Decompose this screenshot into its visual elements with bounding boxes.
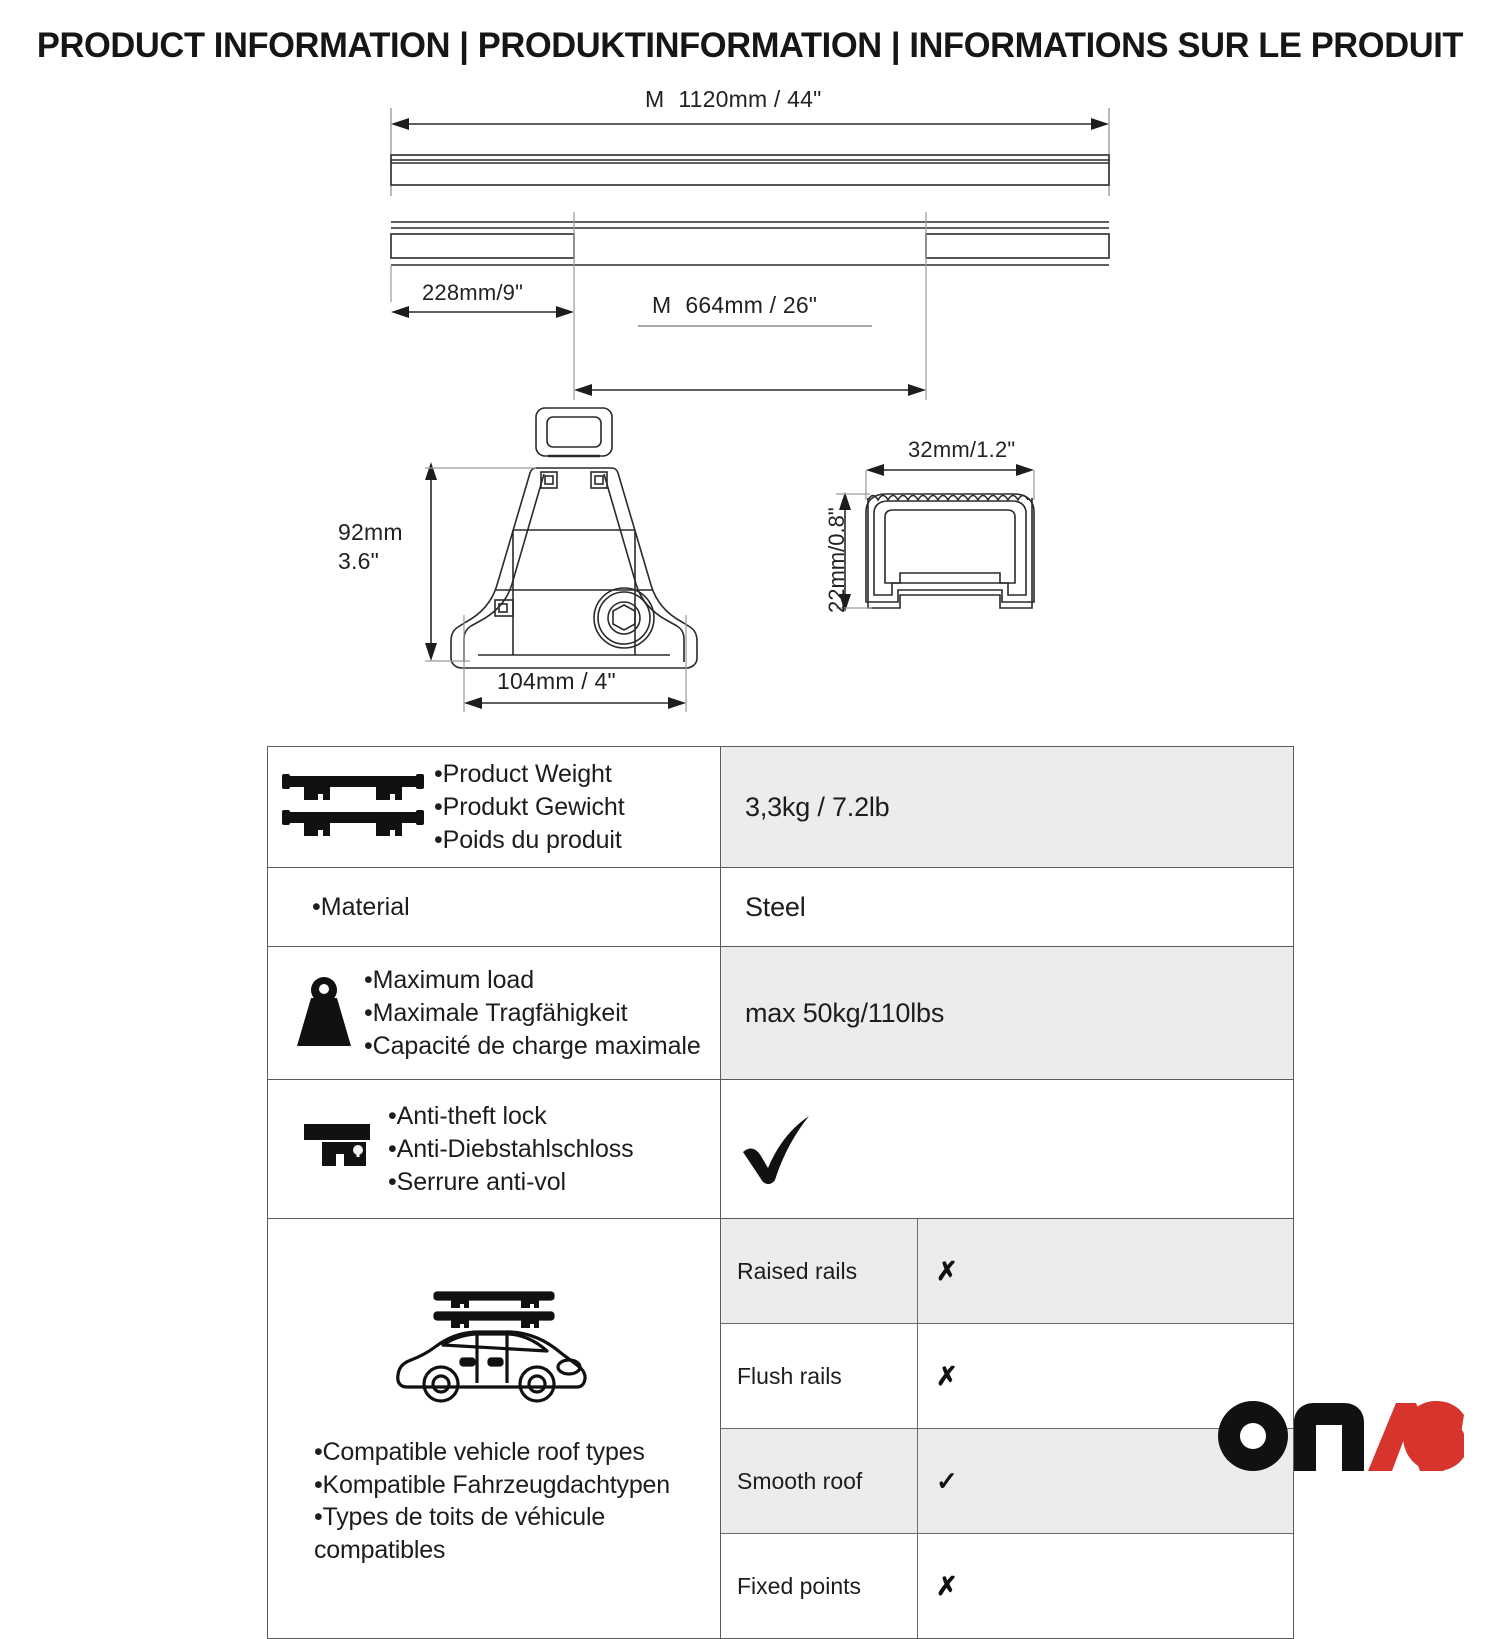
label-line: •Compatible vehicle roof types (314, 1436, 710, 1469)
roof-type-mark: ✗ (918, 1571, 1293, 1602)
max-load-label-cell: •Maximum load •Maximale Tragfähigkeit •C… (268, 947, 721, 1080)
product-spec-table: •Product Weight •Produkt Gewicht •Poids … (267, 746, 1294, 1639)
label-line: •Capacité de charge maximale (364, 1032, 701, 1060)
roof-type-name: Flush rails (721, 1363, 917, 1390)
weight-kettlebell-icon (278, 974, 370, 1052)
material-value-cell: Steel (721, 868, 1294, 947)
bar-length-value: 1120mm / 44" (678, 86, 821, 112)
roof-type-mark-cell: ✗ (918, 1534, 1294, 1639)
roof-type-name-cell: Smooth roof (721, 1429, 918, 1534)
foot-height-mm: 92mm (338, 518, 403, 547)
label-line: •Maximum load (364, 966, 534, 994)
table-row: •Anti-theft lock •Anti-Diebstahlschloss … (268, 1080, 1294, 1219)
roof-types-table: Raised rails ✗ Flush rails ✗ (721, 1219, 1293, 1638)
anti-theft-check-icon (721, 1110, 1293, 1188)
label-line: •Poids du produit (434, 826, 622, 854)
roof-type-mark: ✗ (918, 1361, 1293, 1392)
weight-value: 3,3kg / 7.2lb (721, 792, 1293, 823)
roof-type-mark-cell: ✗ (918, 1219, 1294, 1324)
crossbars-icon (278, 770, 428, 844)
material-value: Steel (721, 892, 1293, 923)
foot-height-in: 3.6" (338, 547, 403, 576)
profile-height-dimension-label: 22mm/0.8" (824, 507, 850, 613)
bar-length-marker: M (645, 86, 664, 112)
car-with-rack-icon (278, 1283, 710, 1418)
technical-drawings: M1120mm / 44" 228mm/9" M664mm / 26" 92mm… (0, 0, 1500, 740)
roof-type-name: Smooth roof (721, 1468, 917, 1495)
lock-label-cell: •Anti-theft lock •Anti-Diebstahlschloss … (268, 1080, 721, 1219)
omac-logo (1216, 1398, 1464, 1474)
roof-type-row: Raised rails ✗ (721, 1219, 1293, 1324)
roof-types-matrix-cell: Raised rails ✗ Flush rails ✗ (721, 1219, 1294, 1639)
roof-type-name: Raised rails (721, 1258, 917, 1285)
label-line: •Product Weight (434, 760, 612, 788)
table-row: •Maximum load •Maximale Tragfähigkeit •C… (268, 947, 1294, 1080)
profile-width-dimension-label: 32mm/1.2" (908, 437, 1015, 463)
max-load-value-cell: max 50kg/110lbs (721, 947, 1294, 1080)
label-line: •Serrure anti-vol (388, 1168, 566, 1196)
roof-type-name-cell: Fixed points (721, 1534, 918, 1639)
material-label-text: •Material (268, 893, 720, 922)
label-line: •Types de toits de véhicule (314, 1501, 710, 1534)
label-line: •Produkt Gewicht (434, 793, 625, 821)
roof-type-name: Fixed points (721, 1573, 917, 1600)
foot-width-dimension-label: 104mm / 4" (497, 668, 616, 695)
label-line: •Anti-theft lock (388, 1102, 547, 1130)
max-load-label-text: •Maximum load •Maximale Tragfähigkeit •C… (364, 964, 701, 1063)
roof-type-row: Fixed points ✗ (721, 1534, 1293, 1639)
roof-type-row: Flush rails ✗ (721, 1324, 1293, 1429)
label-line: compatibles (314, 1534, 710, 1567)
label-line: •Anti-Diebstahlschloss (388, 1135, 634, 1163)
roof-type-mark: ✗ (918, 1256, 1293, 1287)
roof-type-row: Smooth roof ✓ (721, 1429, 1293, 1534)
omac-logo-svg (1216, 1398, 1464, 1474)
label-line: •Maximale Tragfähigkeit (364, 999, 628, 1027)
foot-height-dimension-label: 92mm 3.6" (338, 518, 403, 576)
weight-label-cell: •Product Weight •Produkt Gewicht •Poids … (268, 747, 721, 868)
table-row: •Material Steel (268, 868, 1294, 947)
lock-label-text: •Anti-theft lock •Anti-Diebstahlschloss … (388, 1100, 634, 1199)
spread-marker: M (652, 292, 671, 318)
roof-types-label-cell: •Compatible vehicle roof types •Kompatib… (268, 1219, 721, 1639)
end-offset-dimension-label: 228mm/9" (422, 280, 523, 306)
label-line: •Kompatible Fahrzeugdachtypen (314, 1469, 710, 1502)
spread-value: 664mm / 26" (685, 292, 817, 318)
max-load-value: max 50kg/110lbs (721, 998, 1293, 1029)
material-label-cell: •Material (268, 868, 721, 947)
bar-length-dimension-label: M1120mm / 44" (645, 86, 821, 113)
weight-label-text: •Product Weight •Produkt Gewicht •Poids … (434, 758, 625, 857)
roof-types-label-text: •Compatible vehicle roof types •Kompatib… (278, 1436, 710, 1566)
spread-dimension-label: M664mm / 26" (652, 292, 817, 319)
table-row: •Compatible vehicle roof types •Kompatib… (268, 1219, 1294, 1639)
roof-type-name-cell: Raised rails (721, 1219, 918, 1324)
roof-type-name-cell: Flush rails (721, 1324, 918, 1429)
weight-value-cell: 3,3kg / 7.2lb (721, 747, 1294, 868)
lock-value-cell (721, 1080, 1294, 1219)
table-row: •Product Weight •Produkt Gewicht •Poids … (268, 747, 1294, 868)
